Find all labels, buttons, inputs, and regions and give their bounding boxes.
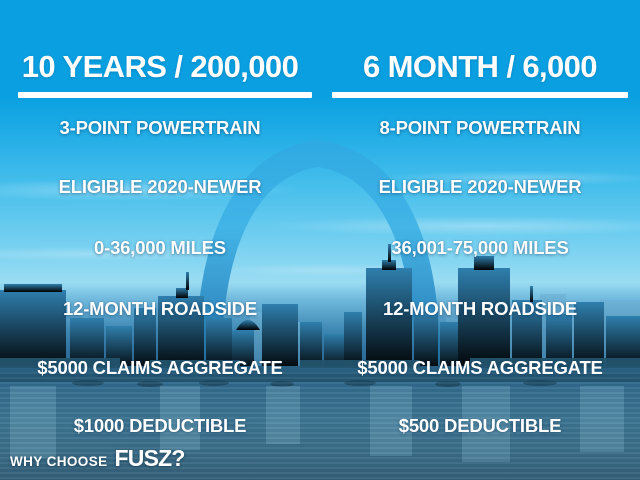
plan-feature-item: $5000 CLAIMS AGGREGATE xyxy=(0,357,320,379)
plan-feature-item: $500 DEDUCTIBLE xyxy=(320,415,640,437)
plan-feature-list-left: 3-POINT POWERTRAIN ELIGIBLE 2020-NEWER 0… xyxy=(0,112,320,442)
comparison-content: 10 YEARS / 200,000 3-POINT POWERTRAIN EL… xyxy=(0,0,640,480)
plan-feature-item: ELIGIBLE 2020-NEWER xyxy=(320,176,640,198)
brand-name-text: FUSZ? xyxy=(115,445,185,472)
plan-column-ten-year: 10 YEARS / 200,000 3-POINT POWERTRAIN EL… xyxy=(0,0,320,480)
brand-lockup: WHY CHOOSE FUSZ? xyxy=(10,445,185,472)
plan-feature-item: 12-MONTH ROADSIDE xyxy=(320,298,640,320)
plan-feature-item: 0-36,000 MILES xyxy=(0,237,320,259)
plan-headline-left: 10 YEARS / 200,000 xyxy=(0,50,320,84)
plan-feature-item: $5000 CLAIMS AGGREGATE xyxy=(320,357,640,379)
plan-headline-right: 6 MONTH / 6,000 xyxy=(320,50,640,84)
plan-feature-item: 3-POINT POWERTRAIN xyxy=(0,117,320,139)
plan-feature-item: $1000 DEDUCTIBLE xyxy=(0,415,320,437)
plan-feature-item: 8-POINT POWERTRAIN xyxy=(320,117,640,139)
plan-feature-item: 36,001-75,000 MILES xyxy=(320,237,640,259)
brand-prefix-text: WHY CHOOSE xyxy=(10,454,108,469)
plan-feature-item: 12-MONTH ROADSIDE xyxy=(0,298,320,320)
plan-column-six-month: 6 MONTH / 6,000 8-POINT POWERTRAIN ELIGI… xyxy=(320,0,640,480)
slide-canvas: 10 YEARS / 200,000 3-POINT POWERTRAIN EL… xyxy=(0,0,640,480)
plan-feature-list-right: 8-POINT POWERTRAIN ELIGIBLE 2020-NEWER 3… xyxy=(320,112,640,442)
plan-feature-item: ELIGIBLE 2020-NEWER xyxy=(0,176,320,198)
headline-underline-left xyxy=(18,92,312,98)
headline-underline-right xyxy=(332,92,628,98)
